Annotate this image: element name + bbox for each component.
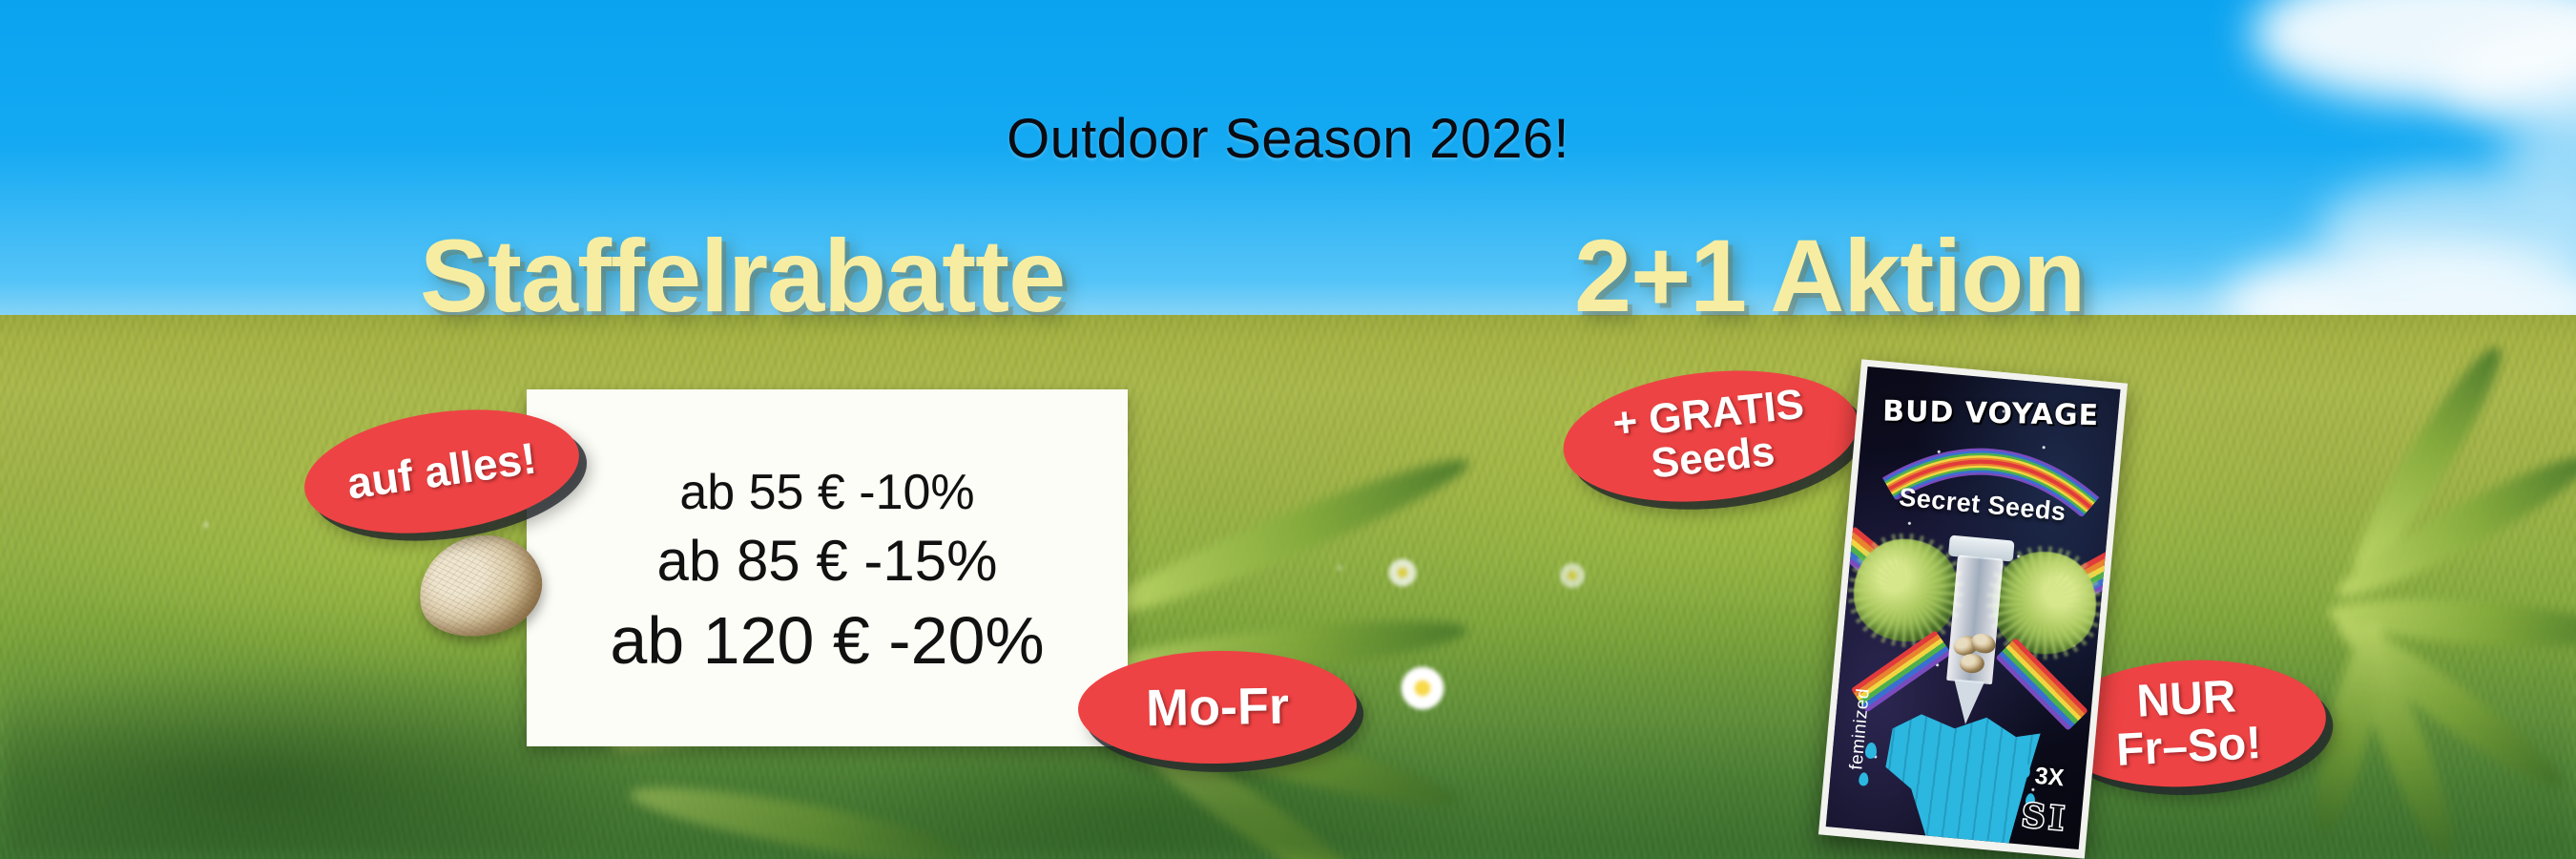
badge-mo-fr-label: Mo-Fr [1146, 680, 1290, 736]
seed-packet-product[interactable]: BUD VOYAGE Secret Seeds [1818, 359, 2128, 858]
packet-seed-count: 3X [2033, 763, 2065, 793]
badge-gratis-line2: Seeds [1650, 429, 1777, 486]
discount-tier-row: ab 55 € -10% [679, 464, 974, 522]
headline-aktion: 2+1 Aktion [1574, 224, 2085, 327]
badge-auf-alles-label: auf alles! [344, 435, 539, 507]
packet-si-logo: SI [2020, 797, 2069, 839]
discount-tier-row: ab 85 € -15% [657, 528, 998, 596]
headline-staffelrabatte: Staffelrabatte [420, 224, 1065, 327]
page-kicker: Outdoor Season 2026! [0, 107, 2576, 171]
discount-tier-row: ab 120 € -20% [610, 601, 1044, 681]
daisy-flower-icon [1393, 659, 1452, 718]
packet-artwork: BUD VOYAGE Secret Seeds [1826, 367, 2121, 849]
discount-tier-panel: ab 55 € -10% ab 85 € -15% ab 120 € -20% [527, 389, 1128, 746]
promo-banner: Outdoor Season 2026! Staffelrabatte 2+1 … [0, 0, 2576, 859]
badge-nur-line1: NUR [2135, 673, 2236, 725]
daisy-flower-icon [1383, 554, 1422, 592]
daisy-flower-icon [1555, 558, 1589, 593]
badge-nur-line2: Fr–So! [2115, 720, 2262, 775]
